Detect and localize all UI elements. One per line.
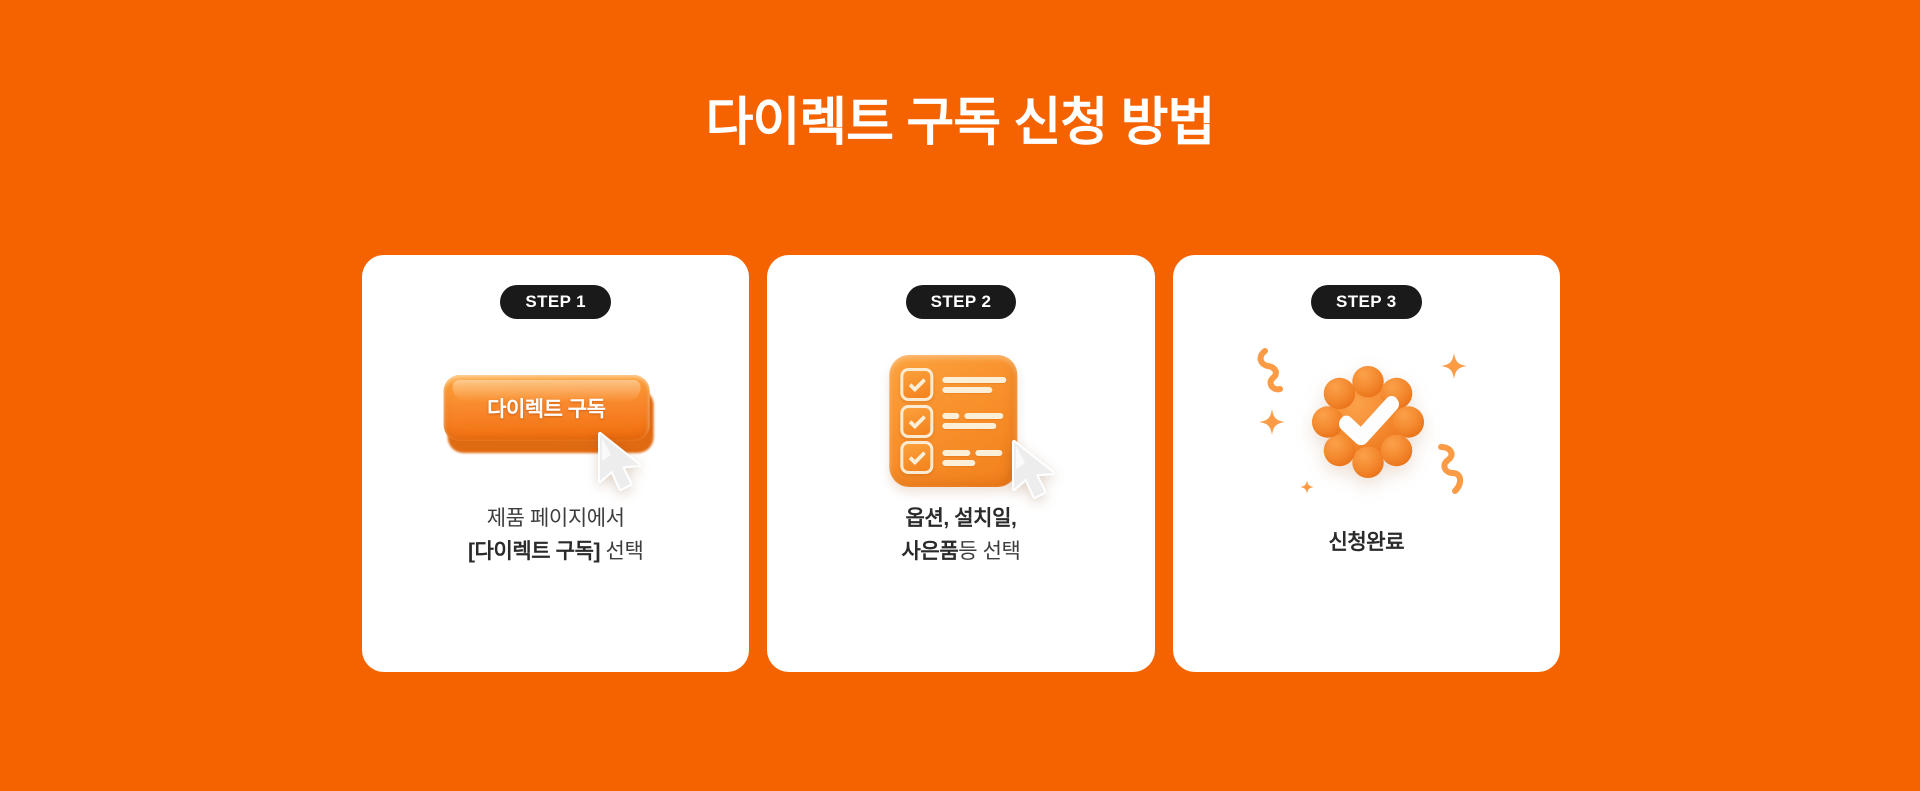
check-mark-icon <box>908 411 926 429</box>
checklist-line-group <box>942 450 1006 466</box>
caption-text-bold: 신청완료 <box>1328 531 1404 554</box>
checkbox-checked-icon <box>900 405 933 438</box>
steps-container: STEP 1 다이렉트 구독 제품 페이지에서 [다이렉트 구독] 선택 <box>362 255 1560 672</box>
step-2-illustration <box>767 327 1154 527</box>
caption-line-1: 제품 페이지에서 <box>378 503 733 536</box>
checklist-row <box>900 405 1006 438</box>
sparkle-star-icon <box>1439 351 1469 381</box>
checklist-line <box>942 387 992 393</box>
caption-line-1: 옵션, 설치일, <box>783 503 1138 536</box>
page-title: 다이렉트 구독 신청 방법 <box>0 92 1920 154</box>
checklist-line <box>942 413 959 419</box>
step-3-caption: 신청완료 <box>1173 527 1560 560</box>
caption-text-bold: 옵션, 설치일, <box>906 507 1017 530</box>
checklist-graphic <box>889 355 1017 487</box>
button-3d-label: 다이렉트 구독 <box>487 393 605 423</box>
caption-text-bold: 사은품 <box>902 540 959 563</box>
caption-text: 선택 <box>600 540 643 563</box>
check-mark-icon <box>908 448 926 466</box>
sparkle-star-icon <box>1257 407 1287 437</box>
checkbox-checked-icon <box>900 441 933 474</box>
step-badge-2: STEP 2 <box>906 285 1017 319</box>
squiggle-icon <box>1255 345 1301 405</box>
step-card-1: STEP 1 다이렉트 구독 제품 페이지에서 [다이렉트 구독] 선택 <box>362 255 749 672</box>
step-card-3: STEP 3 <box>1173 255 1560 672</box>
sparkle-star-icon <box>1299 479 1315 495</box>
squiggle-icon <box>1431 441 1475 499</box>
checkbox-checked-icon <box>900 368 933 401</box>
step-1-caption: 제품 페이지에서 [다이렉트 구독] 선택 <box>362 503 749 568</box>
caption-line-2: 사은품등 선택 <box>783 536 1138 569</box>
caption-text-bold: [다이렉트 구독] <box>468 540 600 563</box>
checklist-line-row <box>942 450 1006 456</box>
checklist-line <box>942 460 975 466</box>
checklist-row <box>900 368 1006 401</box>
verified-badge-graphic <box>1251 341 1481 511</box>
checklist-row <box>900 441 1006 474</box>
step-badge-3: STEP 3 <box>1311 285 1422 319</box>
caption-line-1: 신청완료 <box>1189 527 1544 560</box>
verified-check-badge-icon <box>1309 363 1427 481</box>
cursor-pointer-icon <box>1008 439 1062 503</box>
checklist-line <box>942 423 996 429</box>
checklist-line-group <box>942 413 1006 429</box>
step-badge-1: STEP 1 <box>500 285 611 319</box>
checklist-line <box>942 377 1006 383</box>
step-3-illustration <box>1173 327 1560 527</box>
step-1-illustration: 다이렉트 구독 <box>362 327 749 527</box>
checklist-line <box>942 450 970 456</box>
checklist-line <box>975 450 1002 456</box>
caption-text: 제품 페이지에서 <box>487 507 625 530</box>
caption-line-2: [다이렉트 구독] 선택 <box>378 536 733 569</box>
step-2-caption: 옵션, 설치일, 사은품등 선택 <box>767 503 1154 568</box>
step-card-2: STEP 2 <box>767 255 1154 672</box>
checklist-line <box>964 413 1004 419</box>
cursor-pointer-icon <box>594 431 648 495</box>
check-mark-icon <box>908 375 926 393</box>
caption-text: 등 선택 <box>958 540 1020 563</box>
checklist-line-row <box>942 413 1006 419</box>
checklist-line-group <box>942 377 1006 393</box>
